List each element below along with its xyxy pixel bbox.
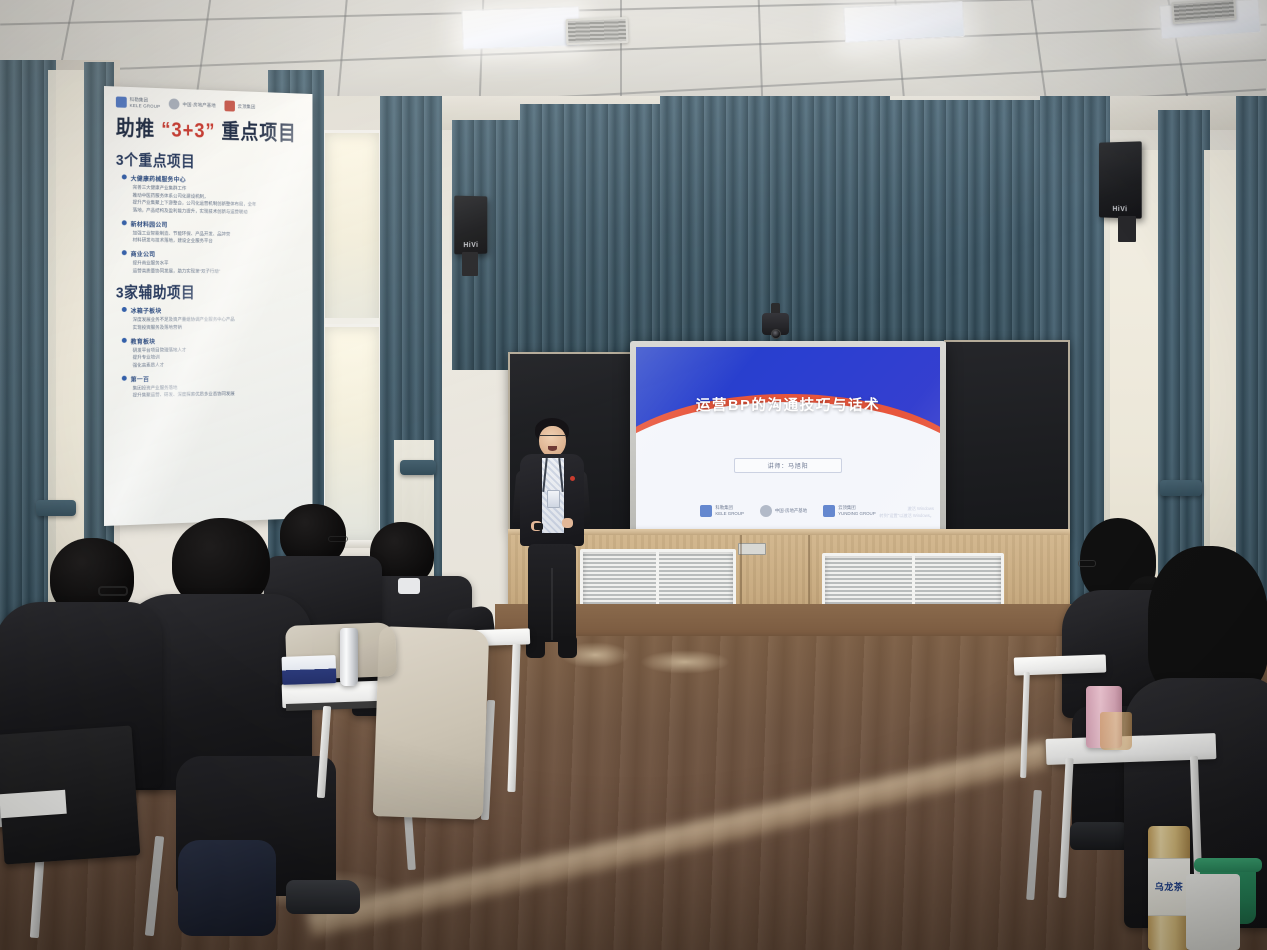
- curtain-panel[interactable]: [520, 104, 670, 354]
- poster-item: 第一百 集团投资产业服务落地 提升集聚运营、研发、深度探索优质多业态协同发展: [122, 372, 302, 399]
- speaker-mount: [462, 252, 478, 276]
- poster-item: 冰箱子板块 深度发展业务不足及资产重组协调产业服务中心产品 实现投资服务及落地营…: [122, 306, 302, 331]
- wall-poster: 科勒集团 KELE GROUP 中国·房地产基地 云顶集团 助推 “3+3” 重…: [104, 86, 312, 526]
- slide-logo: 科勒集团 KELE GROUP: [700, 505, 744, 517]
- cup-body-white: [1186, 874, 1240, 950]
- poster-item-line: 提升集聚运营、研发、深度探索优质多业态协同发展: [122, 390, 302, 399]
- tea-label-text: 乌龙茶: [1155, 883, 1184, 892]
- poster-logo-name: 云顶集团: [238, 104, 256, 110]
- slide-logo-sub: KELE GROUP: [715, 511, 744, 517]
- presenter: [506, 418, 598, 663]
- oolong-tea-bottle: 乌龙茶: [1148, 826, 1190, 950]
- person-shoe: [1070, 822, 1132, 850]
- poster-item-line: 强化高素质人才: [122, 361, 302, 369]
- lapel-pin-icon: [570, 476, 575, 481]
- presenter-mouth: [548, 446, 557, 451]
- speaker-mount: [1118, 216, 1136, 242]
- presenter-trouser-seam: [551, 568, 553, 640]
- backpack: [178, 840, 276, 936]
- poster-item: 大健康药械服务中心 完善三大健康产业集群工作 推动中医药服务体系公司化建设机制，…: [122, 173, 302, 216]
- poster-logo: 云顶集团: [224, 101, 255, 113]
- glasses-icon: [539, 435, 565, 440]
- cup-lid: [1194, 858, 1262, 872]
- glass-jar: [1100, 712, 1132, 750]
- paper-sheet: [0, 790, 67, 819]
- poster-logo: 科勒集团 KELE GROUP: [116, 96, 160, 109]
- poster-logo-row: 科勒集团 KELE GROUP 中国·房地产基地 云顶集团: [116, 96, 301, 114]
- curtain-tieback[interactable]: [36, 500, 76, 516]
- blackboard-right: [944, 340, 1070, 536]
- poster-item-title: 新材料园公司: [122, 219, 302, 230]
- poster-item-line: 提升商业服务水平: [122, 260, 302, 268]
- slide-logo-sub: YUNDING GROUP: [838, 511, 876, 517]
- poster-item-line: 运营高质量协同发展，助力实现第“双子行动”: [122, 268, 302, 276]
- speaker-brand-label: HiVi: [463, 242, 478, 249]
- presenter-boot-right: [558, 636, 577, 658]
- person-hair: [1148, 546, 1267, 696]
- power-socket[interactable]: [738, 543, 766, 555]
- badge-card: [547, 490, 560, 508]
- poster-item-line: 深度发展业务不足及资产重组协调产业服务中心产品: [122, 317, 302, 324]
- poster-section-title: 3家辅助项目: [116, 282, 301, 304]
- ptz-camera-icon: [762, 303, 789, 345]
- wall-speaker-left: HiVi: [454, 196, 487, 255]
- poster-headline-post: 重点项目: [221, 121, 296, 146]
- windows-activation-watermark: 激活 Windows 转到"设置"以激活 Windows。: [879, 506, 934, 519]
- glasses-icon: [328, 536, 348, 542]
- poster-section-title: 3个重点项目: [116, 149, 301, 175]
- poster-item: 商业公司 提升商业服务水平 运营高质量协同发展，助力实现第“双子行动”: [122, 249, 302, 275]
- photo-scene: 科勒集团 KELE GROUP 中国·房地产基地 云顶集团 助推 “3+3” 重…: [0, 0, 1267, 950]
- slide-logo-name: 中国·房地产基地: [775, 508, 807, 514]
- poster-item: 新材料园公司 加强工业智能制造、节能环保、产品开发、品牌营 材料研发与技术落地，…: [122, 219, 302, 246]
- tea-bottle-label: 乌龙茶: [1148, 858, 1190, 916]
- poster-logo-sub: KELE GROUP: [130, 103, 161, 110]
- poster-logo: 中国·房地产基地: [169, 99, 216, 112]
- wall-speaker-right: HiVi: [1099, 141, 1142, 218]
- poster-logo-name: 中国·房地产基地: [183, 102, 216, 109]
- tissue-box: [282, 655, 337, 685]
- poster-headline-pre: 助推: [116, 117, 155, 142]
- curtain-panel[interactable]: [880, 100, 1050, 355]
- slide-logo: 中国·房地产基地: [760, 505, 807, 517]
- curtain-tieback[interactable]: [1160, 480, 1202, 496]
- glasses-icon: [98, 586, 128, 596]
- poster-item-title: 第一百: [122, 372, 302, 383]
- slide-title: 运营BP的沟通技巧与话术: [636, 394, 940, 415]
- poster-item-title: 冰箱子板块: [122, 306, 302, 315]
- sunlight-patch: [640, 650, 730, 674]
- curtain-tieback[interactable]: [400, 460, 436, 475]
- ceiling-light-panel: [461, 6, 580, 50]
- ceiling-air-vent: [566, 17, 629, 45]
- poster-headline-highlight: “3+3”: [161, 119, 215, 144]
- camera-lens: [771, 329, 781, 339]
- slide-canvas: 运营BP的沟通技巧与话术 讲师：马旭阳 科勒集团 KELE GROUP 中国·房…: [636, 347, 940, 529]
- presenter-face: [539, 426, 566, 457]
- person-shoe: [286, 880, 360, 914]
- watermark-line-2: 转到"设置"以激活 Windows。: [879, 513, 934, 519]
- water-bottle: [340, 628, 358, 686]
- poster-item-title: 商业公司: [122, 249, 302, 259]
- poster-item: 教育板块 研发平台项目管理落地人才 提升专业培训 强化高素质人才: [122, 336, 302, 370]
- slide-speaker-box: 讲师：马旭阳: [734, 458, 842, 473]
- person-collar: [398, 578, 420, 594]
- poster-item-line: 材料研发与技术落地，建设企业服务平台: [122, 237, 302, 246]
- slide-logo: 云顶集团 YUNDING GROUP: [823, 505, 876, 517]
- poster-item-title: 教育板块: [122, 336, 302, 346]
- presentation-display[interactable]: 运营BP的沟通技巧与话术 讲师：马旭阳 科勒集团 KELE GROUP 中国·房…: [630, 341, 946, 541]
- slide-speaker-label: 讲师：马旭阳: [768, 461, 809, 470]
- presenter-hand-right: [562, 518, 573, 528]
- poster-item-line: 实现投资服务及落地营销: [122, 324, 302, 331]
- glasses-icon: [1078, 560, 1096, 567]
- ceiling-light-panel: [843, 1, 965, 43]
- presentation-clicker[interactable]: [534, 523, 543, 530]
- speaker-brand-label: HiVi: [1113, 206, 1128, 213]
- poster-headline: 助推 “3+3” 重点项目: [116, 116, 301, 148]
